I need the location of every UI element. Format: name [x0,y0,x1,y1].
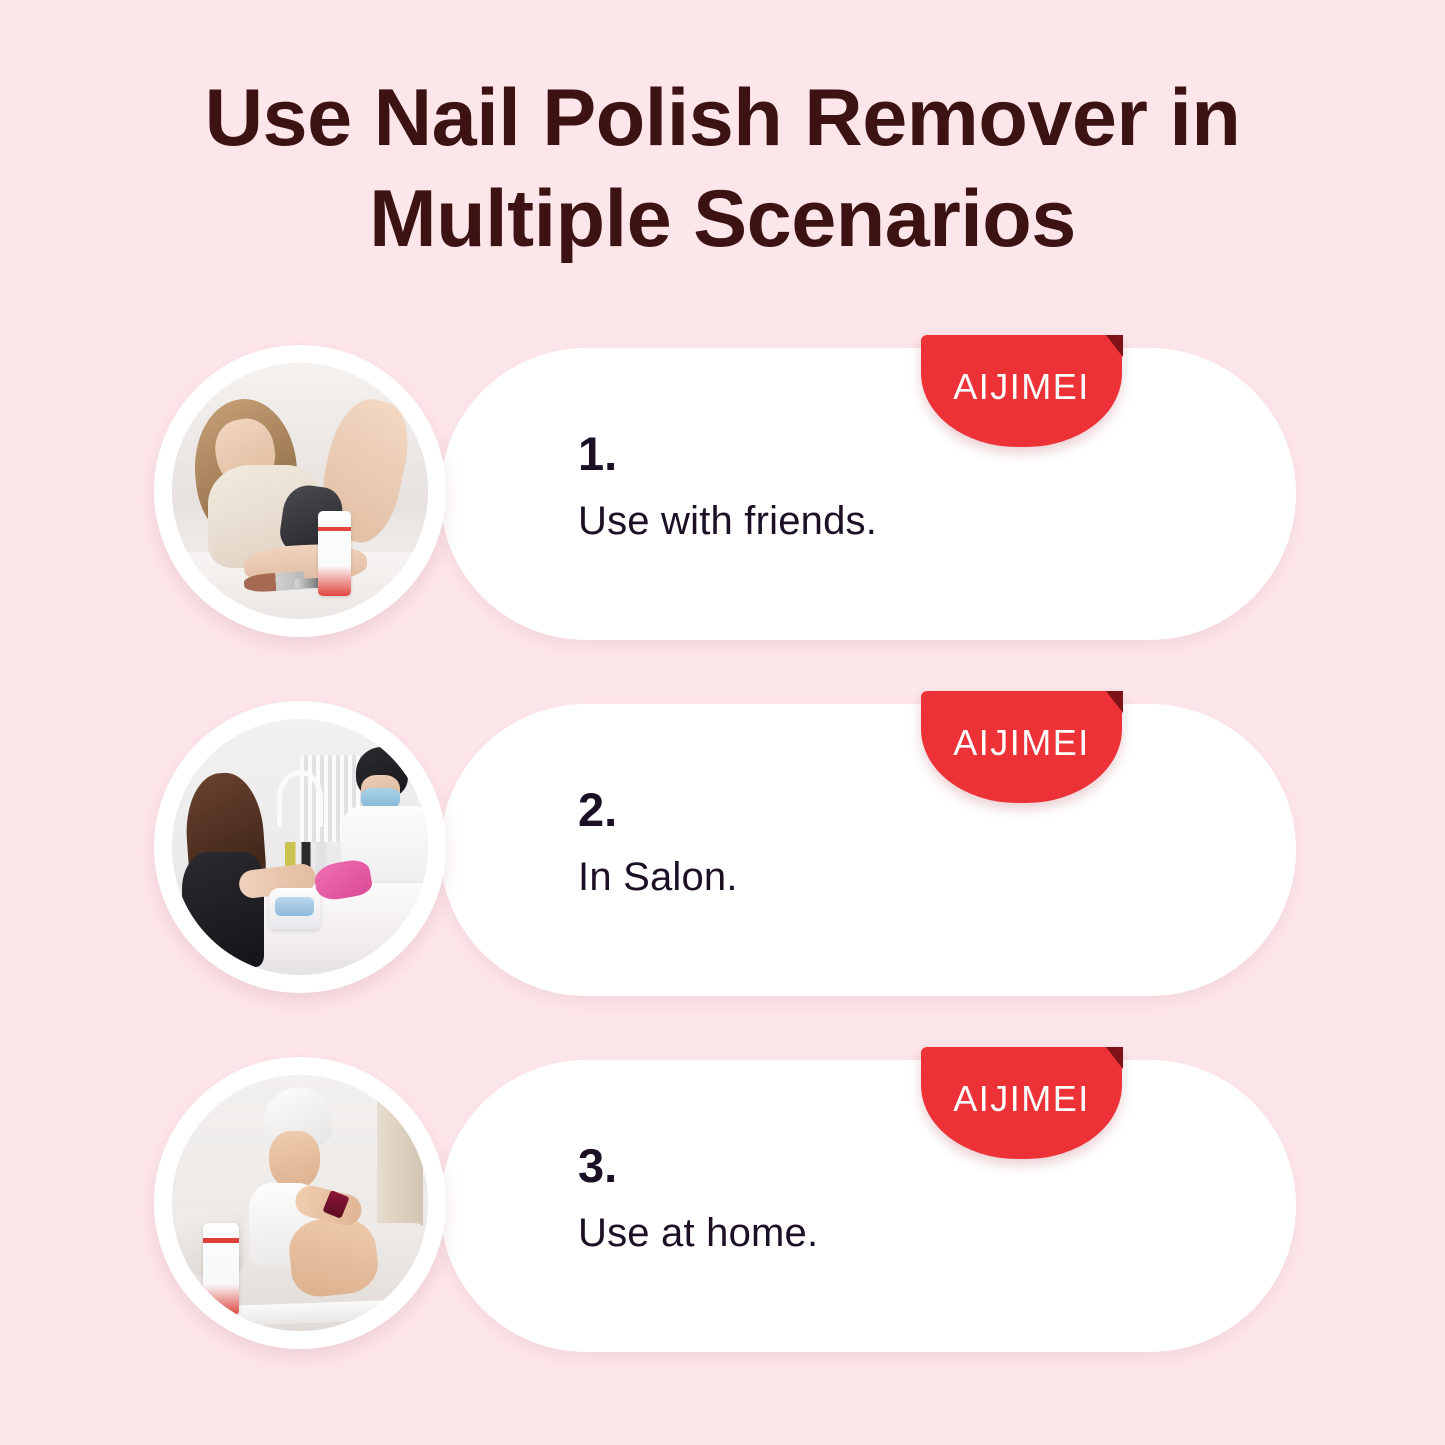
photo1-bottle-label [318,527,351,531]
badge-fold-icon [1106,691,1123,713]
scenario-photo-3 [154,1057,446,1349]
photo2-uv-lamp [269,888,320,929]
scenario-label-3: Use at home. [578,1208,1098,1258]
scenario-card-2: 2. In Salon. [440,704,1296,996]
scenario-row-1: 1. Use with friends. AIJIMEI [0,340,1445,640]
scenario-row-3: 3. Use at home. AIJIMEI [0,1052,1445,1352]
page-title-line-2: Multiple Scenarios [110,169,1335,270]
scenario-card-1: 1. Use with friends. [440,348,1296,640]
scenario-photo-1-image [172,363,428,619]
brand-name-3: AIJIMEI [921,1079,1122,1119]
scenario-list: 1. Use with friends. AIJIMEI [0,340,1445,1352]
scenario-photo-3-image [172,1075,428,1331]
scenario-label-2: In Salon. [578,852,1098,902]
scenario-row-2: 2. In Salon. AIJIMEI [0,696,1445,996]
scenario-photo-2 [154,701,446,993]
scenario-card-3: 3. Use at home. [440,1060,1296,1352]
badge-fold-icon [1106,335,1123,357]
brand-name-1: AIJIMEI [921,367,1122,407]
brand-name-2: AIJIMEI [921,723,1122,763]
scenario-photo-2-image [172,719,428,975]
badge-fold-icon [1106,1047,1123,1069]
photo2-desk-lamp [277,770,323,826]
scenario-label-1: Use with friends. [578,496,1098,546]
page-title: Use Nail Polish Remover in Multiple Scen… [0,68,1445,270]
photo2-uv-lamp-light [275,897,314,916]
photo3-product-bottle [203,1223,239,1315]
photo3-bottle-label [203,1238,239,1243]
page-title-line-1: Use Nail Polish Remover in [110,68,1335,169]
photo1-product-bottle [318,511,351,595]
scenario-photo-1 [154,345,446,637]
